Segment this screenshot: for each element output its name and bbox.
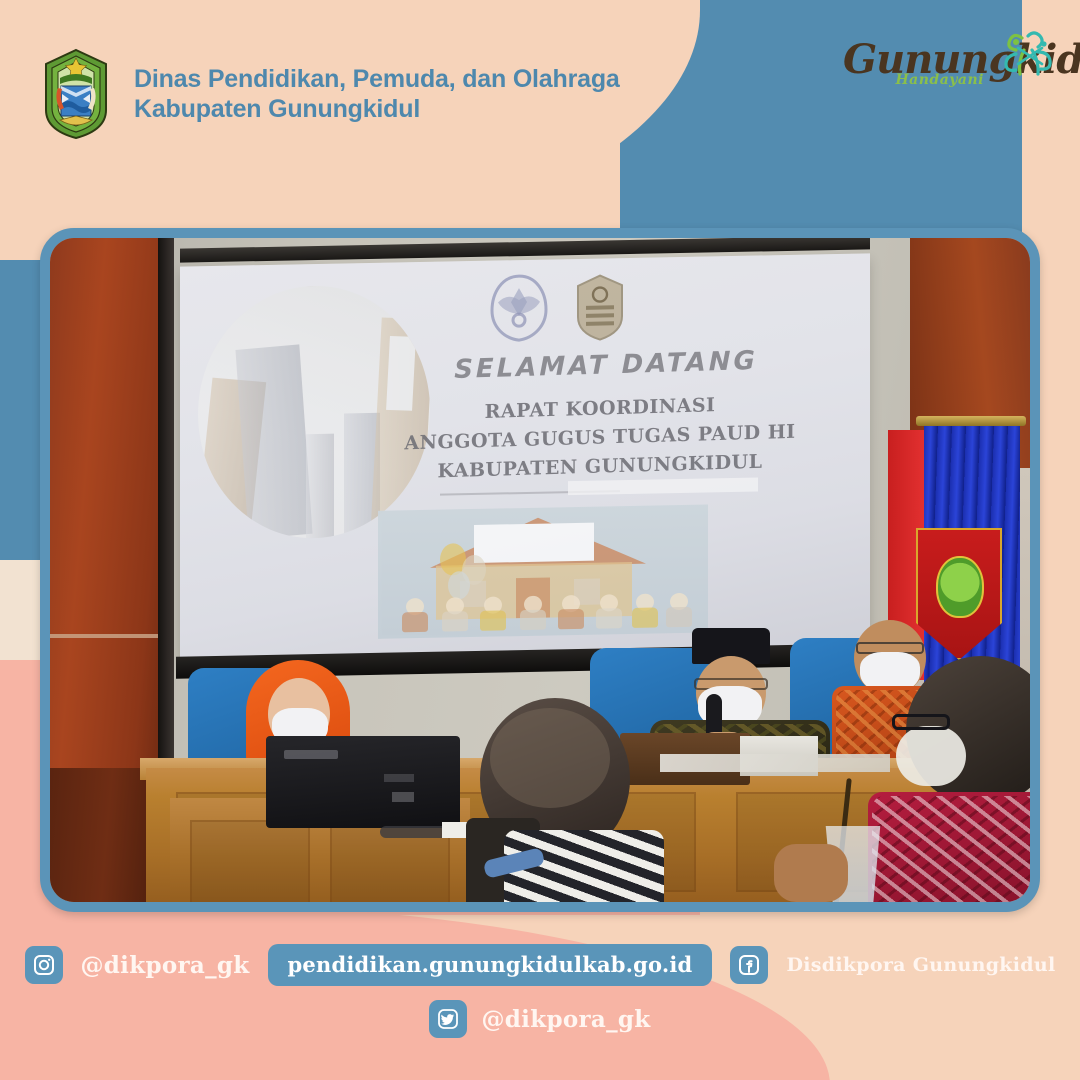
footer-social-bar: @dikpora_gk pendidikan.gunungkidulkab.go…: [0, 944, 1080, 1038]
footer-row-primary: @dikpora_gk pendidikan.gunungkidulkab.go…: [0, 944, 1080, 986]
meeting-photo: SELAMAT DATANG RAPAT KOORDINASI ANGGOTA …: [50, 238, 1030, 902]
eyeglasses-icon: [892, 714, 950, 730]
meeting-photo-frame: SELAMAT DATANG RAPAT KOORDINASI ANGGOTA …: [40, 228, 1040, 912]
instagram-handle[interactable]: @dikpora_gk: [81, 952, 250, 979]
gunungkidul-brand-logo: Gunungkidul Handayani: [843, 40, 1058, 135]
foreground-attendee-right: [858, 656, 1030, 902]
poster-canvas: Dinas Pendidikan, Pemuda, dan Olahraga K…: [0, 0, 1080, 1080]
projection-screen: SELAMAT DATANG RAPAT KOORDINASI ANGGOTA …: [180, 253, 870, 661]
foreground-attendee-left: [450, 698, 650, 902]
hand-holding-cup: [774, 844, 848, 902]
facebook-icon[interactable]: [730, 946, 768, 984]
papers-right: [660, 754, 890, 772]
footer-row-secondary: @dikpora_gk: [0, 1000, 1080, 1038]
tut-wuri-handayani-logo-icon: [486, 271, 552, 344]
curtain-rod: [916, 416, 1026, 426]
gunungkidul-flower-icon: [998, 28, 1058, 84]
website-url-pill[interactable]: pendidikan.gunungkidulkab.go.id: [268, 944, 713, 986]
wood-panel-left: [50, 238, 162, 798]
slide-welcome-text: SELAMAT DATANG: [416, 345, 796, 386]
school-children-illustration: [378, 504, 708, 638]
facebook-handle[interactable]: Disdikpora Gunungkidul: [786, 954, 1055, 976]
lenovo-laptop: [266, 736, 460, 828]
slide-logos: [480, 267, 680, 351]
header: Dinas Pendidikan, Pemuda, dan Olahraga K…: [40, 48, 620, 140]
pennant-crest-icon: [936, 556, 984, 618]
gunungkidul-regency-emblem-icon: [40, 48, 112, 140]
instagram-icon[interactable]: [25, 946, 63, 984]
slide-body-text: RAPAT KOORDINASI ANGGOTA GUGUS TUGAS PAU…: [380, 388, 820, 488]
face-mask: [896, 726, 966, 786]
presentation-slide: SELAMAT DATANG RAPAT KOORDINASI ANGGOTA …: [180, 253, 870, 661]
twitter-handle[interactable]: @dikpora_gk: [481, 1006, 650, 1033]
twitter-icon[interactable]: [429, 1000, 467, 1038]
header-title-line2: Kabupaten Gunungkidul: [134, 94, 620, 125]
gunungkidul-emblem-logo-icon: [572, 272, 628, 343]
wood-panel-seam: [50, 634, 162, 638]
header-title: Dinas Pendidikan, Pemuda, dan Olahraga K…: [134, 64, 620, 125]
slide-white-block: [568, 478, 758, 496]
header-title-line1: Dinas Pendidikan, Pemuda, dan Olahraga: [134, 64, 620, 95]
